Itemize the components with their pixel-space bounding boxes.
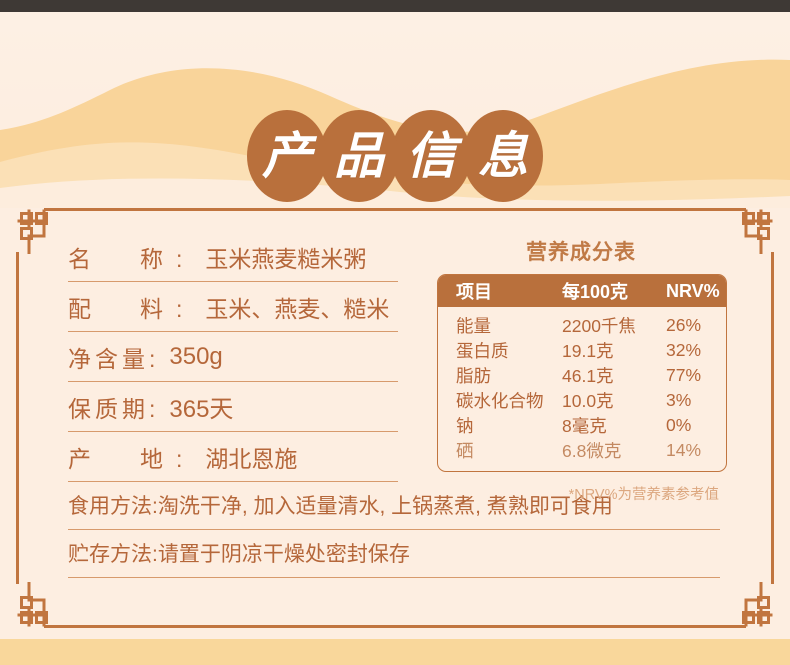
info-row-storage: 贮存方法: 请置于阴凉干燥处密封保存: [68, 529, 720, 578]
nutrition-amount: 46.1克: [562, 363, 666, 388]
product-info-page: 产 品 信 息: [0, 0, 790, 665]
nutrition-nrv: 26%: [666, 315, 726, 336]
nutrition-item: 钠: [438, 413, 562, 438]
info-value-ingredients: 玉米、燕麦、糙米: [205, 290, 389, 324]
top-dark-bar: [0, 0, 790, 12]
info-label-origin: 产 地:: [68, 440, 195, 474]
hero-banner: 产 品 信 息: [0, 12, 790, 208]
product-info-list: 名 称: 玉米燕麦糙米粥 配 料: 玉米、燕麦、糙米 净含量: 350g 保质期…: [68, 232, 398, 482]
nutrition-nrv: 77%: [666, 365, 726, 386]
bottom-warm-band: [0, 639, 790, 665]
table-row: 钠 8毫克 0%: [438, 413, 726, 438]
title-char-3: 信: [391, 110, 471, 202]
nutrition-panel: 营养成分表 项目 每100克 NRV% 能量 2200千焦 26% 蛋白质 19…: [437, 236, 725, 504]
nutrition-header-amount: 每100克: [562, 278, 666, 304]
info-value-storage: 请置于阴凉干燥处密封保存: [158, 538, 410, 568]
nutrition-amount: 10.0克: [562, 388, 666, 413]
nutrition-nrv: 3%: [666, 390, 726, 411]
table-row: 硒 6.8微克 14%: [438, 438, 726, 463]
frame-edge-bottom: [60, 625, 730, 628]
info-row-shelf-life: 保质期: 365天: [68, 382, 398, 432]
nutrition-item: 能量: [438, 313, 562, 338]
nutrition-nrv: 32%: [666, 340, 726, 361]
info-value-name: 玉米燕麦糙米粥: [205, 240, 366, 274]
page-title: 产 品 信 息: [0, 108, 790, 204]
info-label-shelf-life: 保质期:: [68, 390, 159, 424]
nutrition-amount: 19.1克: [562, 338, 666, 363]
info-row-net-weight: 净含量: 350g: [68, 332, 398, 382]
info-label-name: 名 称:: [68, 240, 195, 274]
title-char-2: 品: [319, 110, 399, 202]
corner-ornament-top-right-icon: [726, 208, 774, 256]
nutrition-table-header: 项目 每100克 NRV%: [438, 275, 726, 307]
corner-ornament-bottom-left-icon: [16, 580, 64, 628]
storage-section: 贮存方法: 请置于阴凉干燥处密封保存: [68, 529, 720, 578]
nutrition-table: 项目 每100克 NRV% 能量 2200千焦 26% 蛋白质 19.1克 32…: [437, 274, 727, 472]
table-row: 碳水化合物 10.0克 3%: [438, 388, 726, 413]
table-row: 能量 2200千焦 26%: [438, 313, 726, 338]
nutrition-item: 碳水化合物: [438, 388, 562, 413]
info-label-ingredients: 配 料:: [68, 290, 195, 324]
nutrition-item: 蛋白质: [438, 338, 562, 363]
info-value-origin: 湖北恩施: [205, 440, 297, 474]
nutrition-header-nrv: NRV%: [666, 281, 726, 302]
info-label-net-weight: 净含量:: [68, 340, 159, 374]
nutrition-nrv: 14%: [666, 440, 726, 461]
title-char-4: 息: [463, 110, 543, 202]
frame-edge-left: [16, 252, 19, 584]
nutrition-table-body: 能量 2200千焦 26% 蛋白质 19.1克 32% 脂肪 46.1克 77%…: [438, 307, 726, 471]
info-value-net-weight: 350g: [169, 343, 222, 371]
info-label-usage: 食用方法:: [68, 490, 158, 520]
info-row-ingredients: 配 料: 玉米、燕麦、糙米: [68, 282, 398, 332]
info-value-shelf-life: 365天: [169, 389, 233, 424]
nutrition-footnote: *NRV%为营养素参考值: [437, 483, 725, 504]
nutrition-amount: 8毫克: [562, 413, 666, 438]
table-row: 脂肪 46.1克 77%: [438, 363, 726, 388]
nutrition-amount: 6.8微克: [562, 438, 666, 463]
table-row: 蛋白质 19.1克 32%: [438, 338, 726, 363]
title-char-1: 产: [247, 110, 327, 202]
corner-ornament-top-left-icon: [16, 208, 64, 256]
nutrition-nrv: 0%: [666, 415, 726, 436]
frame-edge-top: [60, 208, 730, 211]
frame-edge-right: [771, 252, 774, 584]
info-row-origin: 产 地: 湖北恩施: [68, 432, 398, 482]
nutrition-title: 营养成分表: [437, 236, 725, 266]
info-row-name: 名 称: 玉米燕麦糙米粥: [68, 232, 398, 282]
nutrition-header-item: 项目: [438, 278, 562, 304]
nutrition-item: 脂肪: [438, 363, 562, 388]
nutrition-item: 硒: [438, 438, 562, 463]
corner-ornament-bottom-right-icon: [726, 580, 774, 628]
nutrition-amount: 2200千焦: [562, 313, 666, 338]
info-label-storage: 贮存方法:: [68, 538, 158, 568]
